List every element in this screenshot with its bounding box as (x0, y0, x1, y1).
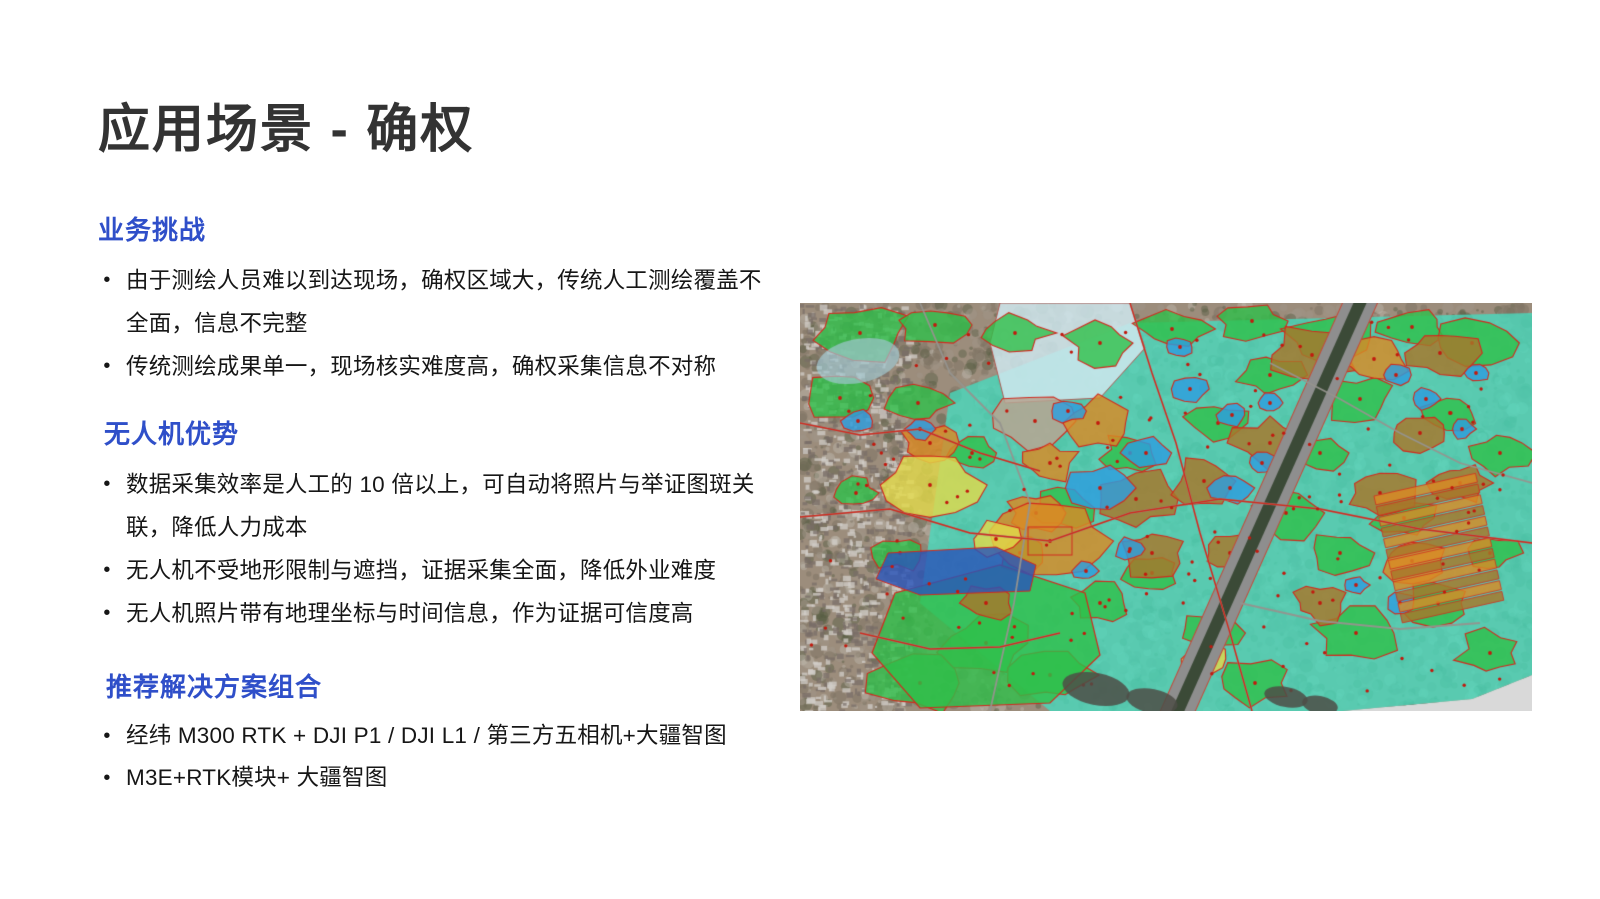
list-item: • 无人机不受地形限制与遮挡，证据采集全面，降低外业难度 (98, 549, 770, 592)
bullet-list-drone-advantage: • 数据采集效率是人工的 10 倍以上，可自动将照片与举证图斑关联，降低人力成本… (98, 463, 770, 635)
bullet-dot-icon: • (100, 715, 114, 758)
list-item-text: 经纬 M300 RTK + DJI P1 / DJI L1 / 第三方五相机+大… (126, 723, 727, 748)
section-recommended-solution: 推荐解决方案组合 • 经纬 M300 RTK + DJI P1 / DJI L1… (98, 671, 770, 799)
list-item: • 无人机照片带有地理坐标与时间信息，作为证据可信度高 (98, 592, 770, 635)
list-item-text: 由于测绘人员难以到达现场，确权区域大，传统人工测绘覆盖不全面，信息不完整 (126, 268, 762, 336)
page-title: 应用场景 - 确权 (98, 101, 474, 161)
section-drone-advantage: 无人机优势 • 数据采集效率是人工的 10 倍以上，可自动将照片与举证图斑关联，… (98, 418, 770, 636)
list-item-text: 无人机不受地形限制与遮挡，证据采集全面，降低外业难度 (126, 558, 716, 583)
orthomosaic-parcel-map-figure (800, 303, 1532, 711)
section-business-challenge: 业务挑战 • 由于测绘人员难以到达现场，确权区域大，传统人工测绘覆盖不全面，信息… (98, 214, 770, 388)
list-item-text: 数据采集效率是人工的 10 倍以上，可自动将照片与举证图斑关联，降低人力成本 (126, 472, 755, 540)
bullet-dot-icon: • (100, 757, 114, 800)
list-item-text: M3E+RTK模块+ 大疆智图 (126, 765, 387, 790)
bullet-dot-icon: • (100, 345, 114, 388)
bullet-list-recommended-solution: • 经纬 M300 RTK + DJI P1 / DJI L1 / 第三方五相机… (98, 715, 770, 799)
list-item: • 经纬 M300 RTK + DJI P1 / DJI L1 / 第三方五相机… (98, 715, 770, 757)
bullet-dot-icon: • (100, 463, 114, 506)
bullet-dot-icon: • (100, 549, 114, 592)
section-heading-business-challenge: 业务挑战 (98, 214, 770, 247)
bullet-dot-icon: • (100, 259, 114, 302)
section-heading-recommended-solution: 推荐解决方案组合 (106, 671, 770, 704)
list-item: • 由于测绘人员难以到达现场，确权区域大，传统人工测绘覆盖不全面，信息不完整 (98, 259, 770, 345)
bullet-list-business-challenge: • 由于测绘人员难以到达现场，确权区域大，传统人工测绘覆盖不全面，信息不完整 •… (98, 259, 770, 388)
list-item: • 数据采集效率是人工的 10 倍以上，可自动将照片与举证图斑关联，降低人力成本 (98, 463, 770, 549)
list-item: • 传统测绘成果单一，现场核实难度高，确权采集信息不对称 (98, 345, 770, 388)
content-column: 业务挑战 • 由于测绘人员难以到达现场，确权区域大，传统人工测绘覆盖不全面，信息… (98, 214, 770, 799)
section-heading-drone-advantage: 无人机优势 (104, 418, 770, 451)
bullet-dot-icon: • (100, 592, 114, 635)
list-item: • M3E+RTK模块+ 大疆智图 (98, 757, 770, 799)
list-item-text: 无人机照片带有地理坐标与时间信息，作为证据可信度高 (126, 601, 694, 626)
orthomosaic-parcel-map-canvas (800, 303, 1532, 711)
list-item-text: 传统测绘成果单一，现场核实难度高，确权采集信息不对称 (126, 354, 716, 379)
